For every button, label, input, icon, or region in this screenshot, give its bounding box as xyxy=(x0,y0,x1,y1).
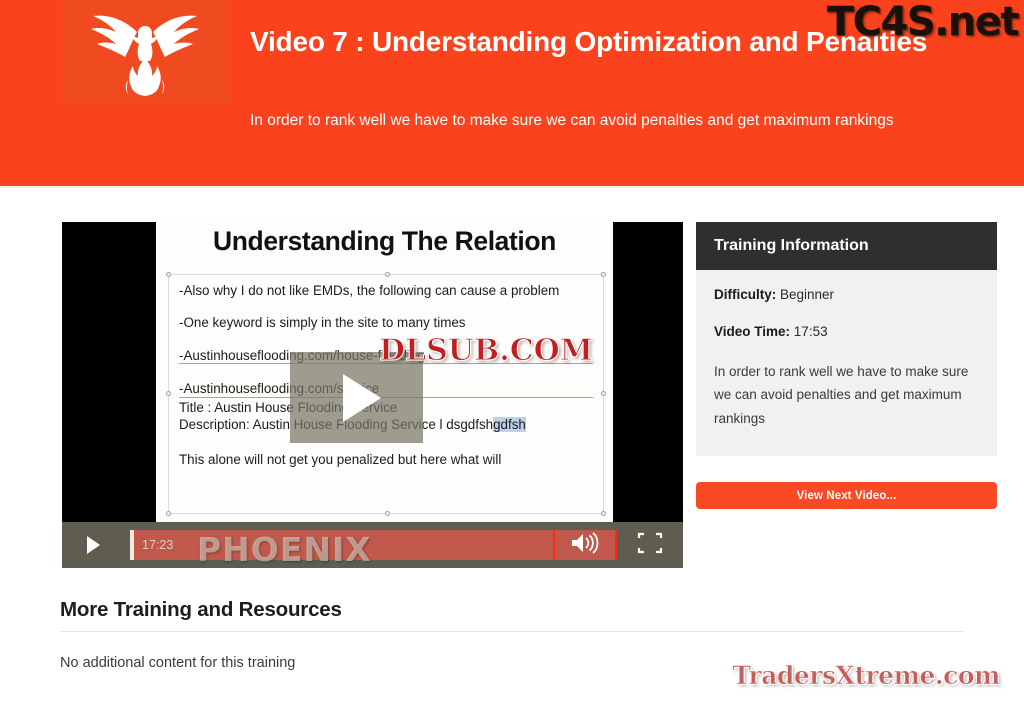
resize-handle-tc[interactable] xyxy=(385,272,390,277)
panel-body: Difficulty: Beginner Video Time: 17:53 I… xyxy=(696,270,997,456)
resize-handle-tl[interactable] xyxy=(166,272,171,277)
slide-title: Understanding The Relation xyxy=(156,226,613,257)
resize-handle-mr[interactable] xyxy=(601,391,606,396)
watermark-dlsub: DLSUB.COM xyxy=(379,333,593,368)
video-time-label: Video Time: xyxy=(714,324,790,339)
difficulty-row: Difficulty: Beginner xyxy=(714,286,979,305)
panel-description: In order to rank well we have to make su… xyxy=(714,360,979,431)
resize-handle-ml[interactable] xyxy=(166,391,171,396)
fullscreen-icon xyxy=(637,532,663,559)
header-divider xyxy=(0,186,1024,188)
panel-title: Training Information xyxy=(714,237,869,255)
video-time-value: 17:53 xyxy=(794,324,828,339)
play-button[interactable] xyxy=(62,522,124,568)
logo-container xyxy=(61,0,229,103)
watermark-tc4s: TC4S.net xyxy=(827,2,1018,42)
time-display: 17:23 xyxy=(142,538,173,552)
video-time-row: Video Time: 17:53 xyxy=(714,323,979,342)
panel-header: Training Information xyxy=(696,222,997,270)
play-icon xyxy=(87,536,100,554)
play-triangle-icon xyxy=(343,374,381,422)
page-root: Video 7 : Understanding Optimization and… xyxy=(0,0,1024,704)
progress-bar[interactable]: 17:23 xyxy=(130,530,553,560)
more-divider xyxy=(60,631,964,632)
slide-bullet-1: -Also why I do not like EMDs, the follow… xyxy=(179,283,593,298)
resize-handle-bc[interactable] xyxy=(385,511,390,516)
volume-button[interactable] xyxy=(553,530,617,560)
resize-handle-bl[interactable] xyxy=(166,511,171,516)
resize-handle-br[interactable] xyxy=(601,511,606,516)
slide-desc-selected: gdfsh xyxy=(493,417,526,432)
view-next-video-button[interactable]: View Next Video... xyxy=(696,482,997,509)
page-header: Video 7 : Understanding Optimization and… xyxy=(0,0,1024,186)
page-subtitle: In order to rank well we have to make su… xyxy=(250,109,955,133)
slide-closing-line: This alone will not get you penalized bu… xyxy=(179,452,593,467)
slide-bullet-2: -One keyword is simply in the site to ma… xyxy=(179,315,593,330)
resize-handle-tr[interactable] xyxy=(601,272,606,277)
watermark-tradersxtreme: TradersXtreme.com xyxy=(732,661,1000,690)
volume-icon xyxy=(570,532,600,559)
video-controls: 17:23 xyxy=(62,522,683,568)
difficulty-value: Beginner xyxy=(780,287,834,302)
fullscreen-button[interactable] xyxy=(617,522,683,568)
phoenix-logo-icon xyxy=(85,6,205,98)
difficulty-label: Difficulty: xyxy=(714,287,776,302)
progress-handle[interactable] xyxy=(130,530,134,560)
more-title: More Training and Resources xyxy=(60,598,964,622)
video-player[interactable]: Understanding The Relation -Also why I d… xyxy=(62,222,683,568)
training-info-sidebar: Training Information Difficulty: Beginne… xyxy=(696,222,997,509)
